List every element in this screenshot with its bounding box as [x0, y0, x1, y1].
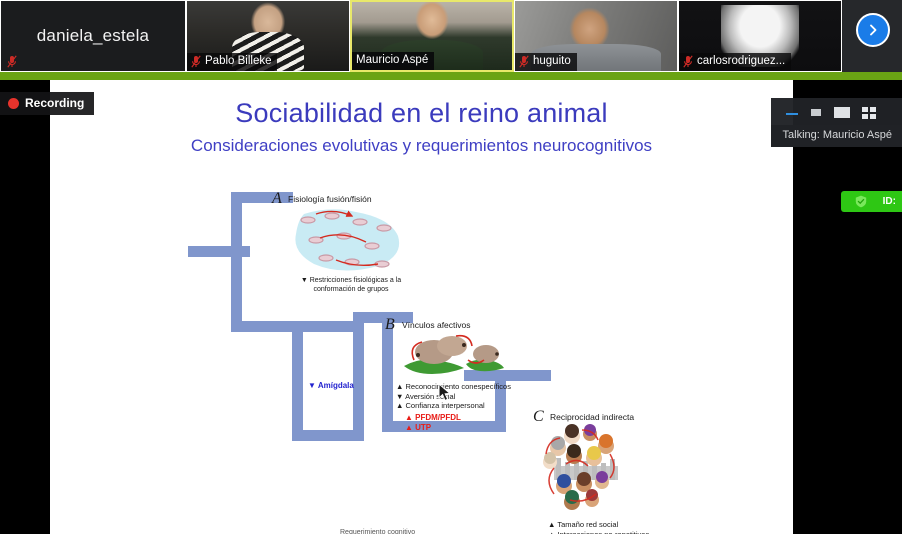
self-mic-status: [1, 53, 23, 71]
meeting-id-label: ID:: [883, 196, 896, 207]
participant-tile-carlosrodriguez[interactable]: carlosrodriguez...: [678, 0, 842, 72]
panel-b-bullet-2: ▼ Aversión social: [396, 392, 511, 402]
participant-name-text: carlosrodriguez...: [697, 55, 785, 68]
screen-share-border: [0, 72, 902, 80]
shared-screen-stage: Sociabilidad en el reino animal Consider…: [0, 80, 902, 534]
participant-name-label: carlosrodriguez...: [679, 53, 791, 71]
panel-heading-b: Vínculos afectivos: [402, 320, 471, 330]
participant-name-label: Pablo Billeke: [187, 53, 277, 71]
participant-name-text: huguito: [533, 55, 571, 68]
view-controls-row: [771, 98, 902, 125]
next-page-button[interactable]: [856, 13, 890, 47]
small-view-icon[interactable]: [809, 105, 823, 119]
panel-bullets-c: ▲ Tamaño red social ▲ Interacciones no-r…: [548, 520, 649, 534]
panel-letter-b: B: [385, 316, 395, 334]
mic-muted-icon: [683, 55, 693, 68]
recording-indicator: Recording: [0, 92, 94, 115]
gallery-view-icon[interactable]: [861, 105, 877, 119]
slide-bottom-caption: Requerimiento cognitivo: [340, 529, 415, 534]
participant-filmstrip: daniela_estela Pablo Billeke: [0, 0, 902, 72]
panel-heading-c: Reciprocidad indirecta: [550, 412, 634, 422]
panel-b-bullet-1: ▲ Reconocimiento conespecíficos: [396, 382, 511, 392]
panel-letter-a: A: [272, 190, 282, 208]
participant-name-label: Mauricio Aspé: [352, 52, 434, 70]
mic-muted-icon: [7, 55, 17, 68]
mic-muted-icon: [519, 55, 529, 68]
participant-name-text: Mauricio Aspé: [356, 54, 428, 67]
participant-tile-huguito[interactable]: huguito: [514, 0, 678, 72]
minimize-icon[interactable]: [785, 105, 799, 119]
participant-tile-self[interactable]: daniela_estela: [0, 0, 186, 72]
red-annotation-2: ▲ UTP: [405, 423, 461, 433]
cladogram-branches: [50, 80, 793, 534]
red-annotation-1: ▲ PFDM/PFDL: [405, 413, 461, 423]
recording-dot-icon: [8, 98, 19, 109]
participant-name-label: huguito: [515, 53, 577, 71]
panel-b-bullet-3: ▲ Confianza interpersonal: [396, 401, 511, 411]
view-controls-panel: Talking: Mauricio Aspé: [771, 98, 902, 147]
panel-b-illustration: [398, 330, 508, 378]
panel-bullets-b: ▲ Reconocimiento conespecíficos ▼ Aversi…: [396, 382, 511, 411]
zoom-meeting-window: daniela_estela Pablo Billeke: [0, 0, 902, 534]
participant-name-text: Pablo Billeke: [205, 55, 271, 68]
panel-a-illustration: [286, 206, 416, 276]
panel-c-bullet-2: ▲ Interacciones no-repetitivas: [548, 530, 649, 534]
mic-muted-icon: [191, 55, 201, 68]
self-tile-name: daniela_estela: [1, 1, 185, 71]
panel-c-illustration: [538, 424, 634, 516]
chevron-right-icon: [866, 23, 880, 37]
panel-heading-a: Fisiología fusión/fisión: [288, 194, 372, 204]
meeting-id-badge[interactable]: ID:: [841, 191, 902, 212]
participant-tile-pablo-billeke[interactable]: Pablo Billeke: [186, 0, 350, 72]
shield-icon: [855, 195, 867, 208]
panel-caption-a: ▼ Restricciones fisiológicas a la confor…: [286, 277, 416, 294]
red-annotations: ▲ PFDM/PFDL ▲ UTP: [405, 413, 461, 433]
participant-tile-mauricio-aspe[interactable]: Mauricio Aspé: [350, 0, 514, 72]
presentation-slide: Sociabilidad en el reino animal Consider…: [50, 80, 793, 534]
recording-label: Recording: [25, 96, 84, 110]
talking-indicator: Talking: Mauricio Aspé: [771, 125, 902, 147]
panel-c-bullet-1: ▲ Tamaño red social: [548, 520, 649, 530]
medium-view-icon[interactable]: [833, 105, 851, 119]
amygdala-label: ▼ Amígdala: [308, 381, 354, 391]
